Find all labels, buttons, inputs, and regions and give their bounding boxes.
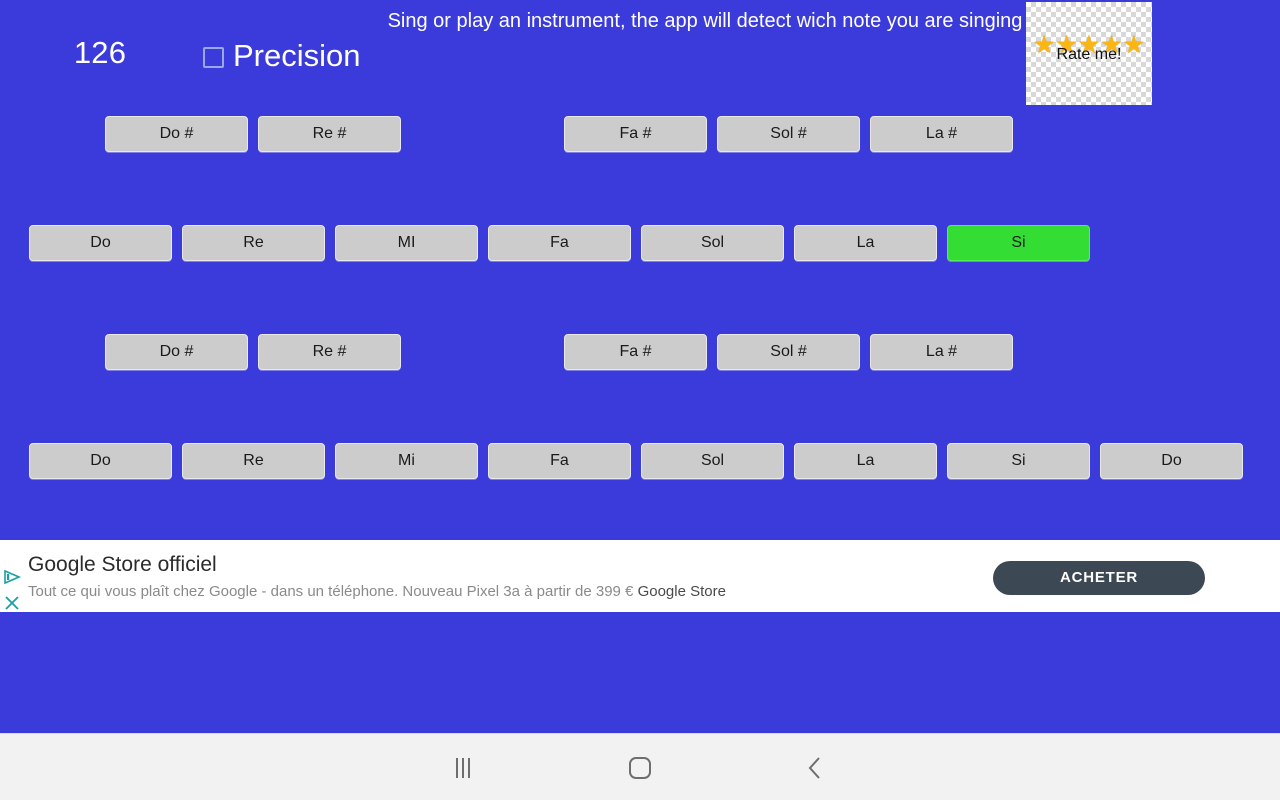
system-navbar [0, 733, 1280, 800]
detected-frequency-value: 126 [60, 32, 140, 74]
note-key[interactable]: Si [947, 443, 1090, 479]
note-key[interactable]: Do # [105, 116, 248, 152]
note-key[interactable]: Re # [258, 334, 401, 370]
nav-recents-button[interactable] [403, 734, 523, 800]
note-key[interactable]: Sol # [717, 334, 860, 370]
note-key[interactable]: Do [1100, 443, 1243, 479]
note-key[interactable]: La [794, 225, 937, 261]
note-key[interactable]: Do # [105, 334, 248, 370]
instructions-text: Sing or play an instrument, the app will… [385, 8, 1025, 35]
ad-cta-button[interactable]: ACHETER [993, 561, 1205, 595]
note-key[interactable]: La [794, 443, 937, 479]
nav-home-button[interactable] [580, 734, 700, 800]
app-root: 126 Precision Sing or play an instrument… [0, 0, 1280, 800]
note-key[interactable]: Sol [641, 443, 784, 479]
note-key[interactable]: Fa # [564, 116, 707, 152]
nav-back-button[interactable] [755, 734, 875, 800]
note-key[interactable]: Sol [641, 225, 784, 261]
note-key[interactable]: Fa # [564, 334, 707, 370]
ad-title: Google Store officiel [28, 552, 217, 578]
ad-description: Tout ce qui vous plaît chez Google - dan… [28, 582, 726, 602]
note-key[interactable]: Mi [335, 443, 478, 479]
note-key[interactable]: Re # [258, 116, 401, 152]
note-key[interactable]: Fa [488, 443, 631, 479]
note-key[interactable]: Fa [488, 225, 631, 261]
back-chevron-icon [805, 755, 825, 781]
precision-checkbox-icon[interactable] [203, 47, 224, 68]
home-icon [629, 757, 651, 779]
precision-label: Precision [233, 36, 361, 76]
note-key[interactable]: Do [29, 443, 172, 479]
rate-me-widget[interactable]: ★ ★ ★ ★ ★ Rate me! [1026, 2, 1152, 105]
recents-icon [456, 758, 470, 778]
ad-description-text: Tout ce qui vous plaît chez Google - dan… [28, 583, 638, 600]
rate-me-label: Rate me! [1026, 46, 1152, 64]
note-key[interactable]: La # [870, 116, 1013, 152]
note-key[interactable]: La # [870, 334, 1013, 370]
ad-close-icon[interactable] [3, 594, 21, 612]
note-key[interactable]: Re [182, 225, 325, 261]
note-key[interactable]: Sol # [717, 116, 860, 152]
note-key[interactable]: Do [29, 225, 172, 261]
note-key[interactable]: Si [947, 225, 1090, 261]
note-key[interactable]: Re [182, 443, 325, 479]
note-key[interactable]: MI [335, 225, 478, 261]
precision-toggle[interactable]: Precision [203, 36, 361, 76]
ad-advertiser-link[interactable]: Google Store [638, 583, 726, 600]
